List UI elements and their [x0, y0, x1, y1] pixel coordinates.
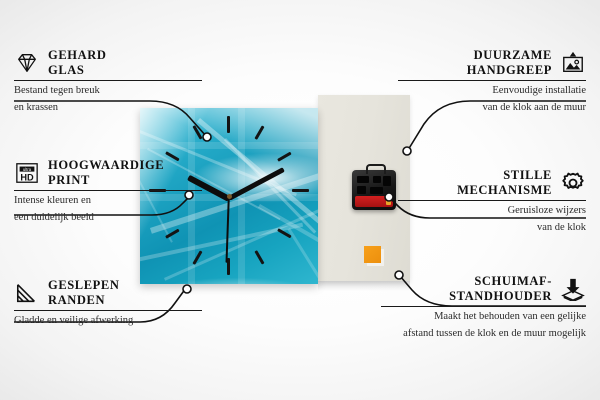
- feature-title-line1: SCHUIMAF-: [449, 274, 552, 289]
- feature-title-line2: GLAS: [48, 63, 106, 78]
- picture-frame-icon: [560, 51, 586, 75]
- ultra-hd-icon-top-label: ultra: [23, 166, 32, 171]
- feature-subtitle-line1: Eenvoudige installatie: [398, 85, 586, 98]
- feature-subtitle-line1: Geruisloze wijzers: [398, 205, 586, 218]
- mechanism-hanger-tab: [366, 164, 386, 174]
- feature-title-line1: DUURZAME: [467, 48, 552, 63]
- feature-stille-mechanisme: STILLE MECHANISME Geruisloze wijzers van…: [398, 168, 586, 234]
- feature-divider: [14, 190, 202, 191]
- feature-title-line2: PRINT: [48, 173, 164, 188]
- infographic-canvas: GEHARD GLAS Bestand tegen breuk en krass…: [0, 0, 600, 400]
- clock-tick: [277, 152, 291, 162]
- feature-duurzame-handgreep: DUURZAME HANDGREEP Eenvoudige installati…: [398, 48, 586, 114]
- ultra-hd-icon-bottom-label: HD: [20, 172, 34, 182]
- feature-title-line1: GESLEPEN: [48, 278, 120, 293]
- battery-positive-terminal: [386, 198, 391, 205]
- feature-subtitle-line2: een duidelijk beeld: [14, 212, 202, 225]
- feature-subtitle-line1: Intense kleuren en: [14, 195, 202, 208]
- feature-divider: [14, 80, 202, 81]
- feature-subtitle-line2: van de klok: [398, 222, 586, 235]
- feature-subtitle-line1: Gladde en veilige afwerking: [14, 315, 202, 328]
- feature-gehard-glas: GEHARD GLAS Bestand tegen breuk en krass…: [14, 48, 202, 114]
- feature-geslepen-randen: GESLEPEN RANDEN Gladde en veilige afwerk…: [14, 278, 202, 328]
- foam-spacer: [364, 246, 381, 263]
- feature-subtitle-line1: Maakt het behouden van een gelijke: [381, 311, 586, 324]
- bevelled-edges-icon: [14, 281, 40, 305]
- feature-subtitle-line2: van de klok aan de muur: [398, 102, 586, 115]
- mechanism-battery: [355, 196, 393, 207]
- feature-divider: [14, 310, 202, 311]
- feature-title-line2: HANDGREEP: [467, 63, 552, 78]
- clock-hand-pivot: [227, 194, 232, 199]
- feature-divider: [381, 306, 586, 307]
- feature-title-line2: RANDEN: [48, 293, 120, 308]
- diamond-icon: [14, 51, 40, 75]
- clock-tick: [227, 116, 230, 133]
- feature-title-line1: GEHARD: [48, 48, 106, 63]
- ultra-hd-icon: ultra HD: [14, 161, 40, 185]
- feature-subtitle-line1: Bestand tegen breuk: [14, 85, 202, 98]
- clock-tick: [165, 229, 179, 239]
- feature-title-line1: HOOGWAARDIGE: [48, 158, 164, 173]
- feature-schuimafstandhouder: SCHUIMAF- STANDHOUDER Maakt het behouden…: [381, 274, 586, 340]
- feature-title-line2: STANDHOUDER: [449, 289, 552, 304]
- press-down-pad-icon: [560, 277, 586, 301]
- feature-divider: [398, 200, 586, 201]
- clock-tick: [292, 189, 309, 192]
- feature-subtitle-line2: en krassen: [14, 102, 202, 115]
- feature-title-line1: STILLE: [457, 168, 552, 183]
- gear-icon: [560, 171, 586, 195]
- clock-mechanism: [352, 170, 396, 210]
- feature-title-line2: MECHANISME: [457, 183, 552, 198]
- feature-subtitle-line2: afstand tussen de klok en de muur mogeli…: [381, 328, 586, 341]
- feature-divider: [398, 80, 586, 81]
- feature-hoogwaardige-print: ultra HD HOOGWAARDIGE PRINT Intense kleu…: [14, 158, 202, 224]
- clock-tick: [254, 250, 264, 264]
- clock-tick: [254, 125, 264, 139]
